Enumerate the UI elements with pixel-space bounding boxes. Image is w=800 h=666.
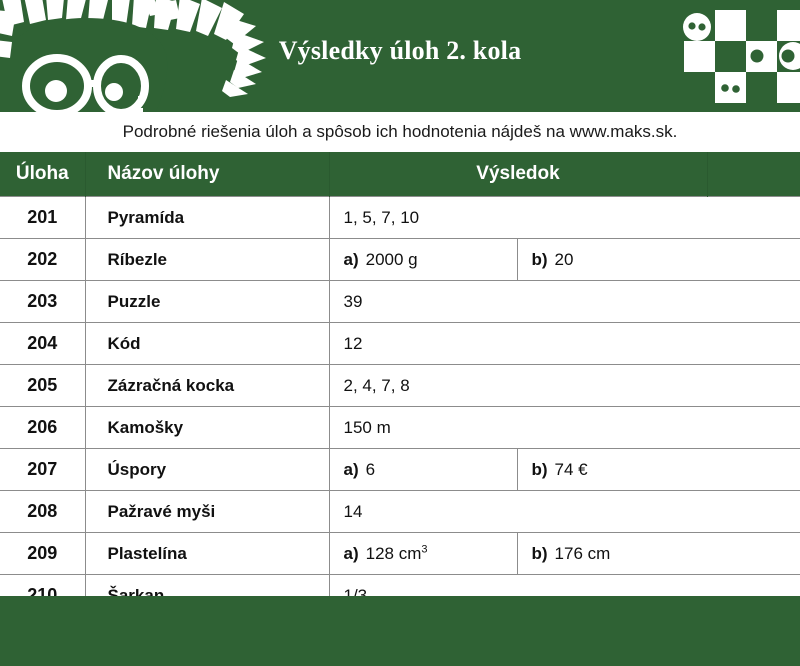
cell-task-name: Puzzle xyxy=(85,281,329,323)
column-header-vysledok: Výsledok xyxy=(329,152,707,197)
cell-result-single: 39 xyxy=(329,281,707,323)
cell-task-number: 209 xyxy=(0,533,85,575)
cell-task-number: 205 xyxy=(0,365,85,407)
cell-result-a: a)2000 g xyxy=(329,239,517,281)
cell-spacer xyxy=(707,281,800,323)
cell-result-single: 2, 4, 7, 8 xyxy=(329,365,707,407)
results-page: Výsledky úloh 2. kola Podrobné riešenia … xyxy=(0,0,800,666)
table-header-row: Úloha Názov úlohy Výsledok xyxy=(0,152,800,197)
cell-task-name: Pyramída xyxy=(85,197,329,239)
cell-task-number: 208 xyxy=(0,491,85,533)
footer-band xyxy=(0,596,800,666)
cell-task-number: 206 xyxy=(0,407,85,449)
cell-spacer xyxy=(707,491,800,533)
page-banner: Výsledky úloh 2. kola xyxy=(0,0,800,112)
result-label-b: b) xyxy=(532,544,548,563)
table-row: 203Puzzle39 xyxy=(0,281,800,323)
cell-result-single: 150 m xyxy=(329,407,707,449)
cell-task-number: 204 xyxy=(0,323,85,365)
cell-result-single: 14 xyxy=(329,491,707,533)
cell-spacer xyxy=(707,239,800,281)
cell-result-a: a)6 xyxy=(329,449,517,491)
cell-task-name: Plastelína xyxy=(85,533,329,575)
column-header-uloha: Úloha xyxy=(0,152,85,197)
cell-result-single: 1, 5, 7, 10 xyxy=(329,197,707,239)
result-label-a: a) xyxy=(344,250,359,269)
cell-result-b: b)20 xyxy=(517,239,707,281)
cell-task-number: 207 xyxy=(0,449,85,491)
result-label-b: b) xyxy=(532,460,548,479)
page-title: Výsledky úloh 2. kola xyxy=(0,36,800,66)
result-value-b: 20 xyxy=(555,250,574,269)
table-row: 208Pažravé myši14 xyxy=(0,491,800,533)
cell-task-name: Úspory xyxy=(85,449,329,491)
result-value-a: 6 xyxy=(366,460,375,479)
cell-spacer xyxy=(707,365,800,407)
cell-spacer xyxy=(707,407,800,449)
result-value-b: 176 cm xyxy=(555,544,611,563)
subtitle-note: Podrobné riešenia úloh a spôsob ich hodn… xyxy=(0,112,800,152)
cell-task-name: Kód xyxy=(85,323,329,365)
cell-spacer xyxy=(707,323,800,365)
table-row: 207Úsporya)6b)74 € xyxy=(0,449,800,491)
table-row: 206Kamošky150 m xyxy=(0,407,800,449)
cell-spacer xyxy=(707,449,800,491)
table-row: 201Pyramída1, 5, 7, 10 xyxy=(0,197,800,239)
table-row: 204Kód12 xyxy=(0,323,800,365)
cell-result-b: b)176 cm xyxy=(517,533,707,575)
table-row: 205Zázračná kocka2, 4, 7, 8 xyxy=(0,365,800,407)
cell-result-single: 12 xyxy=(329,323,707,365)
cell-task-name: Ríbezle xyxy=(85,239,329,281)
cell-task-number: 202 xyxy=(0,239,85,281)
cell-task-name: Zázračná kocka xyxy=(85,365,329,407)
table-row: 209Plastelínaa)128 cm3b)176 cm xyxy=(0,533,800,575)
cell-task-name: Kamošky xyxy=(85,407,329,449)
result-value-a: 128 cm3 xyxy=(366,544,428,563)
result-label-a: a) xyxy=(344,460,359,479)
cell-task-number: 203 xyxy=(0,281,85,323)
column-header-empty xyxy=(707,152,800,197)
results-table: Úloha Názov úlohy Výsledok 201Pyramída1,… xyxy=(0,152,800,617)
cell-spacer xyxy=(707,197,800,239)
column-header-nazov: Názov úlohy xyxy=(85,152,329,197)
results-table-wrapper: Úloha Názov úlohy Výsledok 201Pyramída1,… xyxy=(0,152,800,617)
result-value-a: 2000 g xyxy=(366,250,418,269)
cell-result-b: b)74 € xyxy=(517,449,707,491)
cell-result-a: a)128 cm3 xyxy=(329,533,517,575)
result-label-b: b) xyxy=(532,250,548,269)
table-row: 202Ríbezlea)2000 gb)20 xyxy=(0,239,800,281)
cell-spacer xyxy=(707,533,800,575)
result-label-a: a) xyxy=(344,544,359,563)
cell-task-number: 201 xyxy=(0,197,85,239)
table-body: 201Pyramída1, 5, 7, 10202Ríbezlea)2000 g… xyxy=(0,197,800,617)
cell-task-name: Pažravé myši xyxy=(85,491,329,533)
result-value-b: 74 € xyxy=(555,460,588,479)
